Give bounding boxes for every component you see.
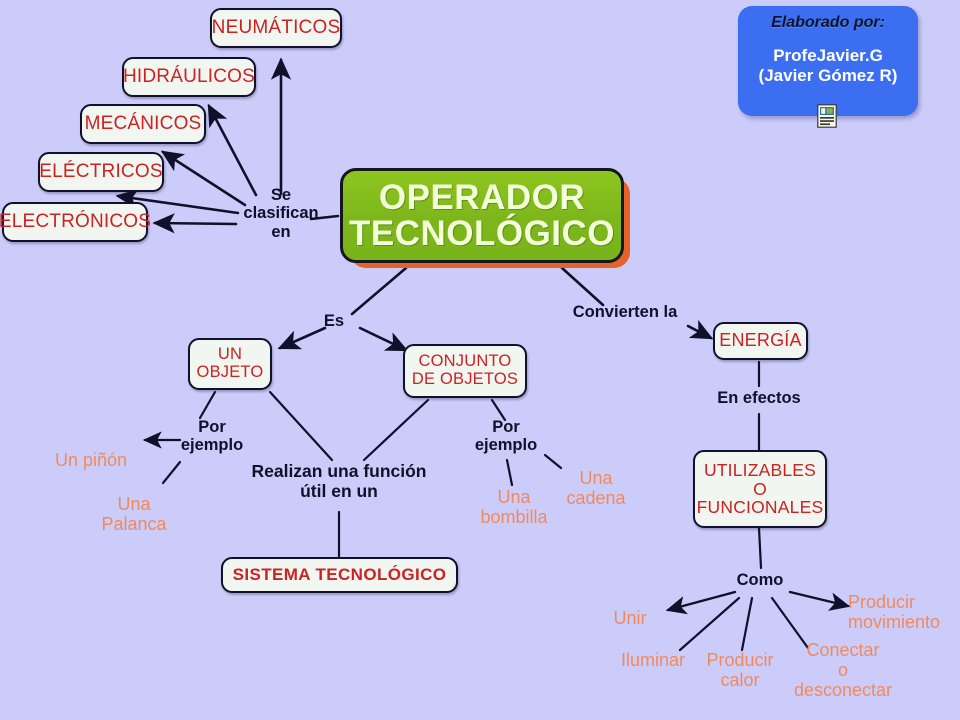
edge-hero-to-es	[352, 268, 406, 314]
label-es: Es	[310, 312, 358, 330]
edge-utilizables-como	[759, 528, 761, 568]
leaf-un-pinon: Un piñón	[38, 450, 144, 470]
leaf-unir: Unir	[598, 608, 662, 628]
node-electronicos-label: ELECTRÓNICOS	[0, 212, 151, 233]
leaf-una-palanca: Una Palanca	[88, 494, 180, 534]
edge-es-un-objeto	[280, 328, 325, 348]
edge-como-calor	[742, 598, 752, 650]
node-conjunto-de-objetos: CONJUNTO DE OBJETOS	[403, 344, 527, 398]
edge-conjunto-por-ejemplo	[492, 400, 505, 420]
node-electricos-label: ELÉCTRICOS	[39, 162, 162, 183]
node-hidraulicos-label: HIDRÁULICOS	[123, 67, 255, 88]
node-hidraulicos: HIDRÁULICOS	[122, 57, 256, 97]
leaf-producir-calor: Producir calor	[700, 650, 780, 690]
concept-map-canvas: Elaborado por: ProfeJavier.G (Javier Góm…	[0, 0, 960, 720]
edge-clasifican-electronicos	[155, 223, 236, 224]
node-electronicos: ELECTRÓNICOS	[2, 202, 148, 242]
node-sistema-label: SISTEMA TECNOLÓGICO	[233, 566, 447, 584]
node-utilizables-funcionales: UTILIZABLES O FUNCIONALES	[693, 450, 827, 528]
edge-conjunto-funcion	[364, 400, 428, 460]
credit-author: ProfeJavier.G (Javier Gómez R)	[738, 32, 918, 86]
leaf-una-cadena: Una cadena	[552, 468, 640, 508]
credit-heading: Elaborado por:	[738, 6, 918, 32]
node-energia: ENERGÍA	[713, 322, 808, 360]
edge-convierten-energia	[688, 326, 711, 338]
label-convierten-la: Convierten la	[560, 303, 690, 321]
hero-node-operador-tecnologico: OPERADOR TECNOLÓGICO	[340, 168, 624, 263]
label-por-ejemplo-izquierda: Por ejemplo	[167, 418, 257, 455]
label-realizan-funcion: Realizan una función útil en un	[228, 462, 450, 501]
node-neumaticos-label: NEUMÁTICOS	[212, 18, 341, 39]
node-utilizables-label: UTILIZABLES O FUNCIONALES	[697, 461, 824, 518]
node-conjunto-label: CONJUNTO DE OBJETOS	[412, 353, 518, 389]
node-mecanicos-label: MECÁNICOS	[85, 114, 202, 135]
node-un-objeto-label: UN OBJETO	[197, 346, 264, 382]
edge-como-unir	[668, 592, 735, 610]
edge-como-iluminar	[680, 598, 739, 650]
edge-ejemplo-bombilla	[507, 460, 512, 485]
edge-hero-to-convierten	[562, 268, 603, 305]
edge-clasifican-hidraulicos	[209, 106, 256, 195]
label-se-clasifican-en: Se clasifican en	[232, 186, 330, 241]
leaf-una-bombilla: Una bombilla	[468, 487, 560, 527]
label-como: Como	[723, 571, 797, 589]
node-electricos: ELÉCTRICOS	[38, 152, 164, 192]
hero-line-1: OPERADOR	[379, 180, 585, 216]
node-sistema-tecnologico: SISTEMA TECNOLÓGICO	[221, 557, 458, 593]
leaf-iluminar: Iluminar	[606, 650, 700, 670]
edge-objeto-por-ejemplo	[200, 392, 215, 418]
node-neumaticos: NEUMÁTICOS	[210, 8, 342, 48]
edge-ejemplo-palanca	[163, 462, 180, 483]
document-icon	[817, 104, 837, 128]
leaf-conectar-o-desconectar: Conectar o desconectar	[784, 640, 902, 700]
credit-card: Elaborado por: ProfeJavier.G (Javier Góm…	[738, 6, 918, 116]
edge-objeto-funcion	[270, 392, 332, 460]
edge-ejemplo-cadena	[545, 455, 561, 468]
leaf-producir-movimiento: Producir movimiento	[848, 592, 960, 632]
edge-es-conjunto	[360, 328, 406, 350]
label-por-ejemplo-derecha: Por ejemplo	[461, 418, 551, 455]
node-energia-label: ENERGÍA	[719, 331, 801, 350]
label-en-efectos: En efectos	[699, 389, 819, 407]
node-mecanicos: MECÁNICOS	[80, 104, 206, 144]
edge-como-movimiento	[790, 592, 848, 606]
hero-line-2: TECNOLÓGICO	[349, 216, 615, 252]
node-un-objeto: UN OBJETO	[188, 338, 272, 390]
